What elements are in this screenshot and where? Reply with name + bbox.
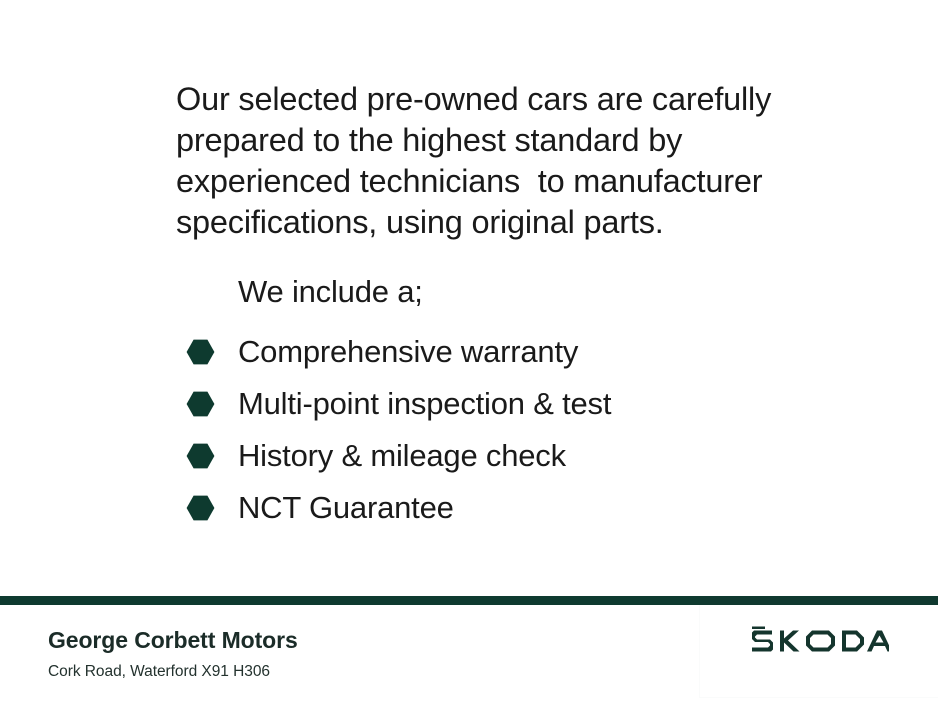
slide-canvas: Our selected pre-owned cars are carefull… [0,0,938,704]
intro-line: prepared to the highest standard by [176,120,796,161]
hexagon-bullet-icon [186,495,215,521]
list-item-label: Comprehensive warranty [238,333,578,371]
benefits-list: Comprehensive warranty Multi-point inspe… [186,326,786,534]
intro-line: experienced technicians to manufacturer [176,161,796,202]
hexagon-bullet-icon [186,339,215,365]
hexagon-bullet-icon [186,443,215,469]
dealer-name: George Corbett Motors [48,627,298,654]
list-item: Multi-point inspection & test [186,378,786,430]
list-item: History & mileage check [186,430,786,482]
intro-line: specifications, using original parts. [176,202,796,243]
dealer-address: Cork Road, Waterford X91 H306 [48,663,270,681]
include-lead-text: We include a; [238,273,423,311]
list-item-label: History & mileage check [238,437,566,475]
list-item-label: NCT Guarantee [238,489,454,527]
intro-paragraph: Our selected pre-owned cars are carefull… [176,79,796,243]
skoda-wordmark-icon [749,626,889,656]
footer-divider-right-segment [700,597,938,605]
list-item-label: Multi-point inspection & test [238,385,611,423]
intro-line: Our selected pre-owned cars are carefull… [176,79,796,120]
list-item: NCT Guarantee [186,482,786,534]
list-item: Comprehensive warranty [186,326,786,378]
hexagon-bullet-icon [186,391,215,417]
